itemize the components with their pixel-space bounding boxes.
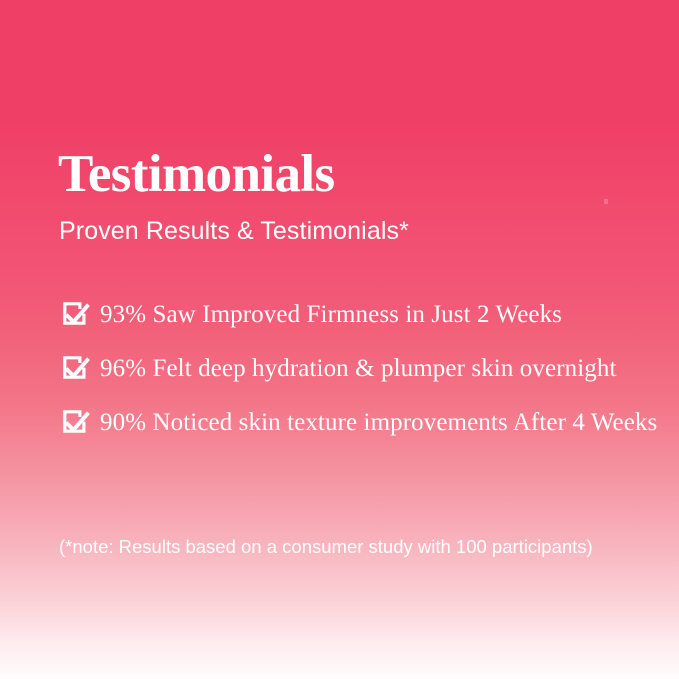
list-item-label: 93% Saw Improved Firmness in Just 2 Week…: [100, 301, 562, 329]
list-item-label: 90% Noticed skin texture improvements Af…: [100, 409, 657, 437]
list-item: 90% Noticed skin texture improvements Af…: [61, 406, 661, 440]
list-item: 96% Felt deep hydration & plumper skin o…: [61, 352, 661, 386]
list-item-label: 96% Felt deep hydration & plumper skin o…: [100, 355, 617, 383]
background-speck: [604, 199, 608, 204]
study-footnote: (*note: Results based on a consumer stud…: [59, 536, 593, 558]
list-item: 93% Saw Improved Firmness in Just 2 Week…: [61, 298, 661, 332]
testimonials-poster: Testimonials Proven Results & Testimonia…: [0, 0, 679, 679]
page-subtitle: Proven Results & Testimonials*: [59, 218, 409, 246]
checkbox-checked-icon: [61, 302, 87, 328]
testimonial-claims-list: 93% Saw Improved Firmness in Just 2 Week…: [61, 298, 661, 440]
checkbox-checked-icon: [61, 356, 87, 382]
page-title: Testimonials: [58, 148, 335, 201]
poster-content: Testimonials Proven Results & Testimonia…: [58, 0, 658, 679]
checkbox-checked-icon: [61, 410, 87, 436]
